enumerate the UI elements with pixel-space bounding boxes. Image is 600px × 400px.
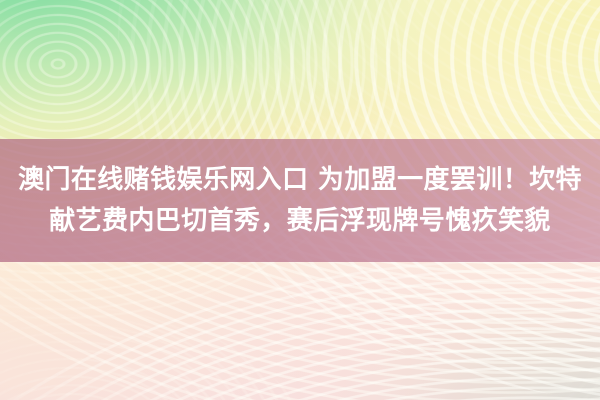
caption-line-2: 献艺费内巴切首秀，赛后浮现牌号愧疚笑貌 bbox=[49, 201, 551, 242]
caption-band: 澳门在线赌钱娱乐网入口 为加盟一度罢训！坎特 献艺费内巴切首秀，赛后浮现牌号愧疚… bbox=[0, 139, 600, 262]
promotional-banner: 澳门在线赌钱娱乐网入口 为加盟一度罢训！坎特 献艺费内巴切首秀，赛后浮现牌号愧疚… bbox=[0, 0, 600, 400]
caption-line-1: 澳门在线赌钱娱乐网入口 为加盟一度罢训！坎特 bbox=[18, 160, 582, 201]
